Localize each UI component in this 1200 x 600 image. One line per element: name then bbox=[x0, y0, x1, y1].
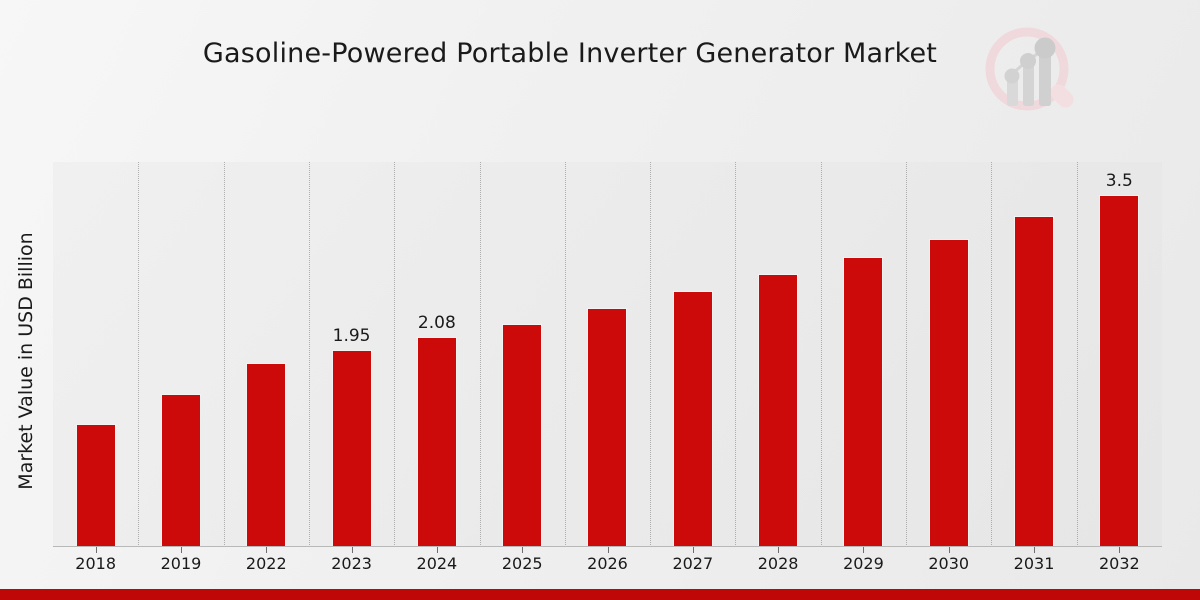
bar-slot bbox=[735, 162, 820, 547]
x-axis-label-2029: 2029 bbox=[843, 554, 884, 573]
x-axis-label-2026: 2026 bbox=[587, 554, 628, 573]
bar-2032[interactable] bbox=[1099, 195, 1139, 547]
x-tick-2029 bbox=[863, 547, 864, 553]
page-title: Gasoline-Powered Portable Inverter Gener… bbox=[0, 38, 1140, 69]
bar-2018[interactable] bbox=[76, 424, 116, 547]
brand-logo-watermark bbox=[975, 22, 1090, 127]
x-axis-label-2031: 2031 bbox=[1014, 554, 1055, 573]
bar-2022[interactable] bbox=[246, 363, 286, 547]
bar-slot bbox=[906, 162, 991, 547]
bar-2031[interactable] bbox=[1014, 216, 1054, 547]
x-tick-2025 bbox=[522, 547, 523, 553]
plot-area: 1.952.083.5 bbox=[53, 162, 1162, 547]
y-axis-title: Market Value in USD Billion bbox=[15, 161, 37, 561]
x-tick-2031 bbox=[1034, 547, 1035, 553]
x-axis-label-2025: 2025 bbox=[502, 554, 543, 573]
x-tick-2022 bbox=[266, 547, 267, 553]
x-tick-2024 bbox=[437, 547, 438, 553]
bar-2029[interactable] bbox=[843, 257, 883, 547]
bar-2023[interactable] bbox=[332, 350, 372, 547]
bar-slot bbox=[224, 162, 309, 547]
bar-slot bbox=[650, 162, 735, 547]
bar-value-label-2024: 2.08 bbox=[418, 313, 456, 333]
x-tick-2018 bbox=[96, 547, 97, 553]
bar-slot bbox=[565, 162, 650, 547]
x-tick-2019 bbox=[181, 547, 182, 553]
x-axis-label-2030: 2030 bbox=[928, 554, 969, 573]
bar-2028[interactable] bbox=[758, 274, 798, 547]
bar-2026[interactable] bbox=[587, 308, 627, 547]
x-axis-label-2024: 2024 bbox=[417, 554, 458, 573]
bar-2030[interactable] bbox=[929, 239, 969, 547]
x-axis-label-2028: 2028 bbox=[758, 554, 799, 573]
x-axis-label-2027: 2027 bbox=[672, 554, 713, 573]
x-tick-2030 bbox=[949, 547, 950, 553]
x-tick-2026 bbox=[608, 547, 609, 553]
bar-slot bbox=[138, 162, 223, 547]
bar-2025[interactable] bbox=[502, 324, 542, 547]
bar-2027[interactable] bbox=[673, 291, 713, 547]
bar-2019[interactable] bbox=[161, 394, 201, 547]
x-axis-label-2018: 2018 bbox=[75, 554, 116, 573]
x-tick-2027 bbox=[693, 547, 694, 553]
chart-page: Gasoline-Powered Portable Inverter Gener… bbox=[0, 0, 1200, 600]
bar-slot bbox=[991, 162, 1076, 547]
x-axis-ticks bbox=[53, 547, 1162, 553]
bar-value-label-2032: 3.5 bbox=[1106, 171, 1133, 191]
bar-slot bbox=[821, 162, 906, 547]
bar-slot bbox=[53, 162, 138, 547]
bars-layer: 1.952.083.5 bbox=[53, 162, 1162, 547]
x-tick-2028 bbox=[778, 547, 779, 553]
x-tick-2023 bbox=[352, 547, 353, 553]
bar-slot: 1.95 bbox=[309, 162, 394, 547]
x-tick-2032 bbox=[1119, 547, 1120, 553]
magnifier-chart-icon bbox=[975, 22, 1090, 127]
footer-accent-bar bbox=[0, 589, 1200, 600]
bar-slot bbox=[480, 162, 565, 547]
bar-slot: 2.08 bbox=[394, 162, 479, 547]
bar-2024[interactable] bbox=[417, 337, 457, 547]
x-axis-label-2022: 2022 bbox=[246, 554, 287, 573]
x-axis-label-2019: 2019 bbox=[161, 554, 202, 573]
bar-slot: 3.5 bbox=[1077, 162, 1162, 547]
x-axis-labels: 2018201920222023202420252026202720282029… bbox=[53, 554, 1162, 578]
x-axis-label-2032: 2032 bbox=[1099, 554, 1140, 573]
bar-value-label-2023: 1.95 bbox=[333, 326, 371, 346]
x-axis-label-2023: 2023 bbox=[331, 554, 372, 573]
